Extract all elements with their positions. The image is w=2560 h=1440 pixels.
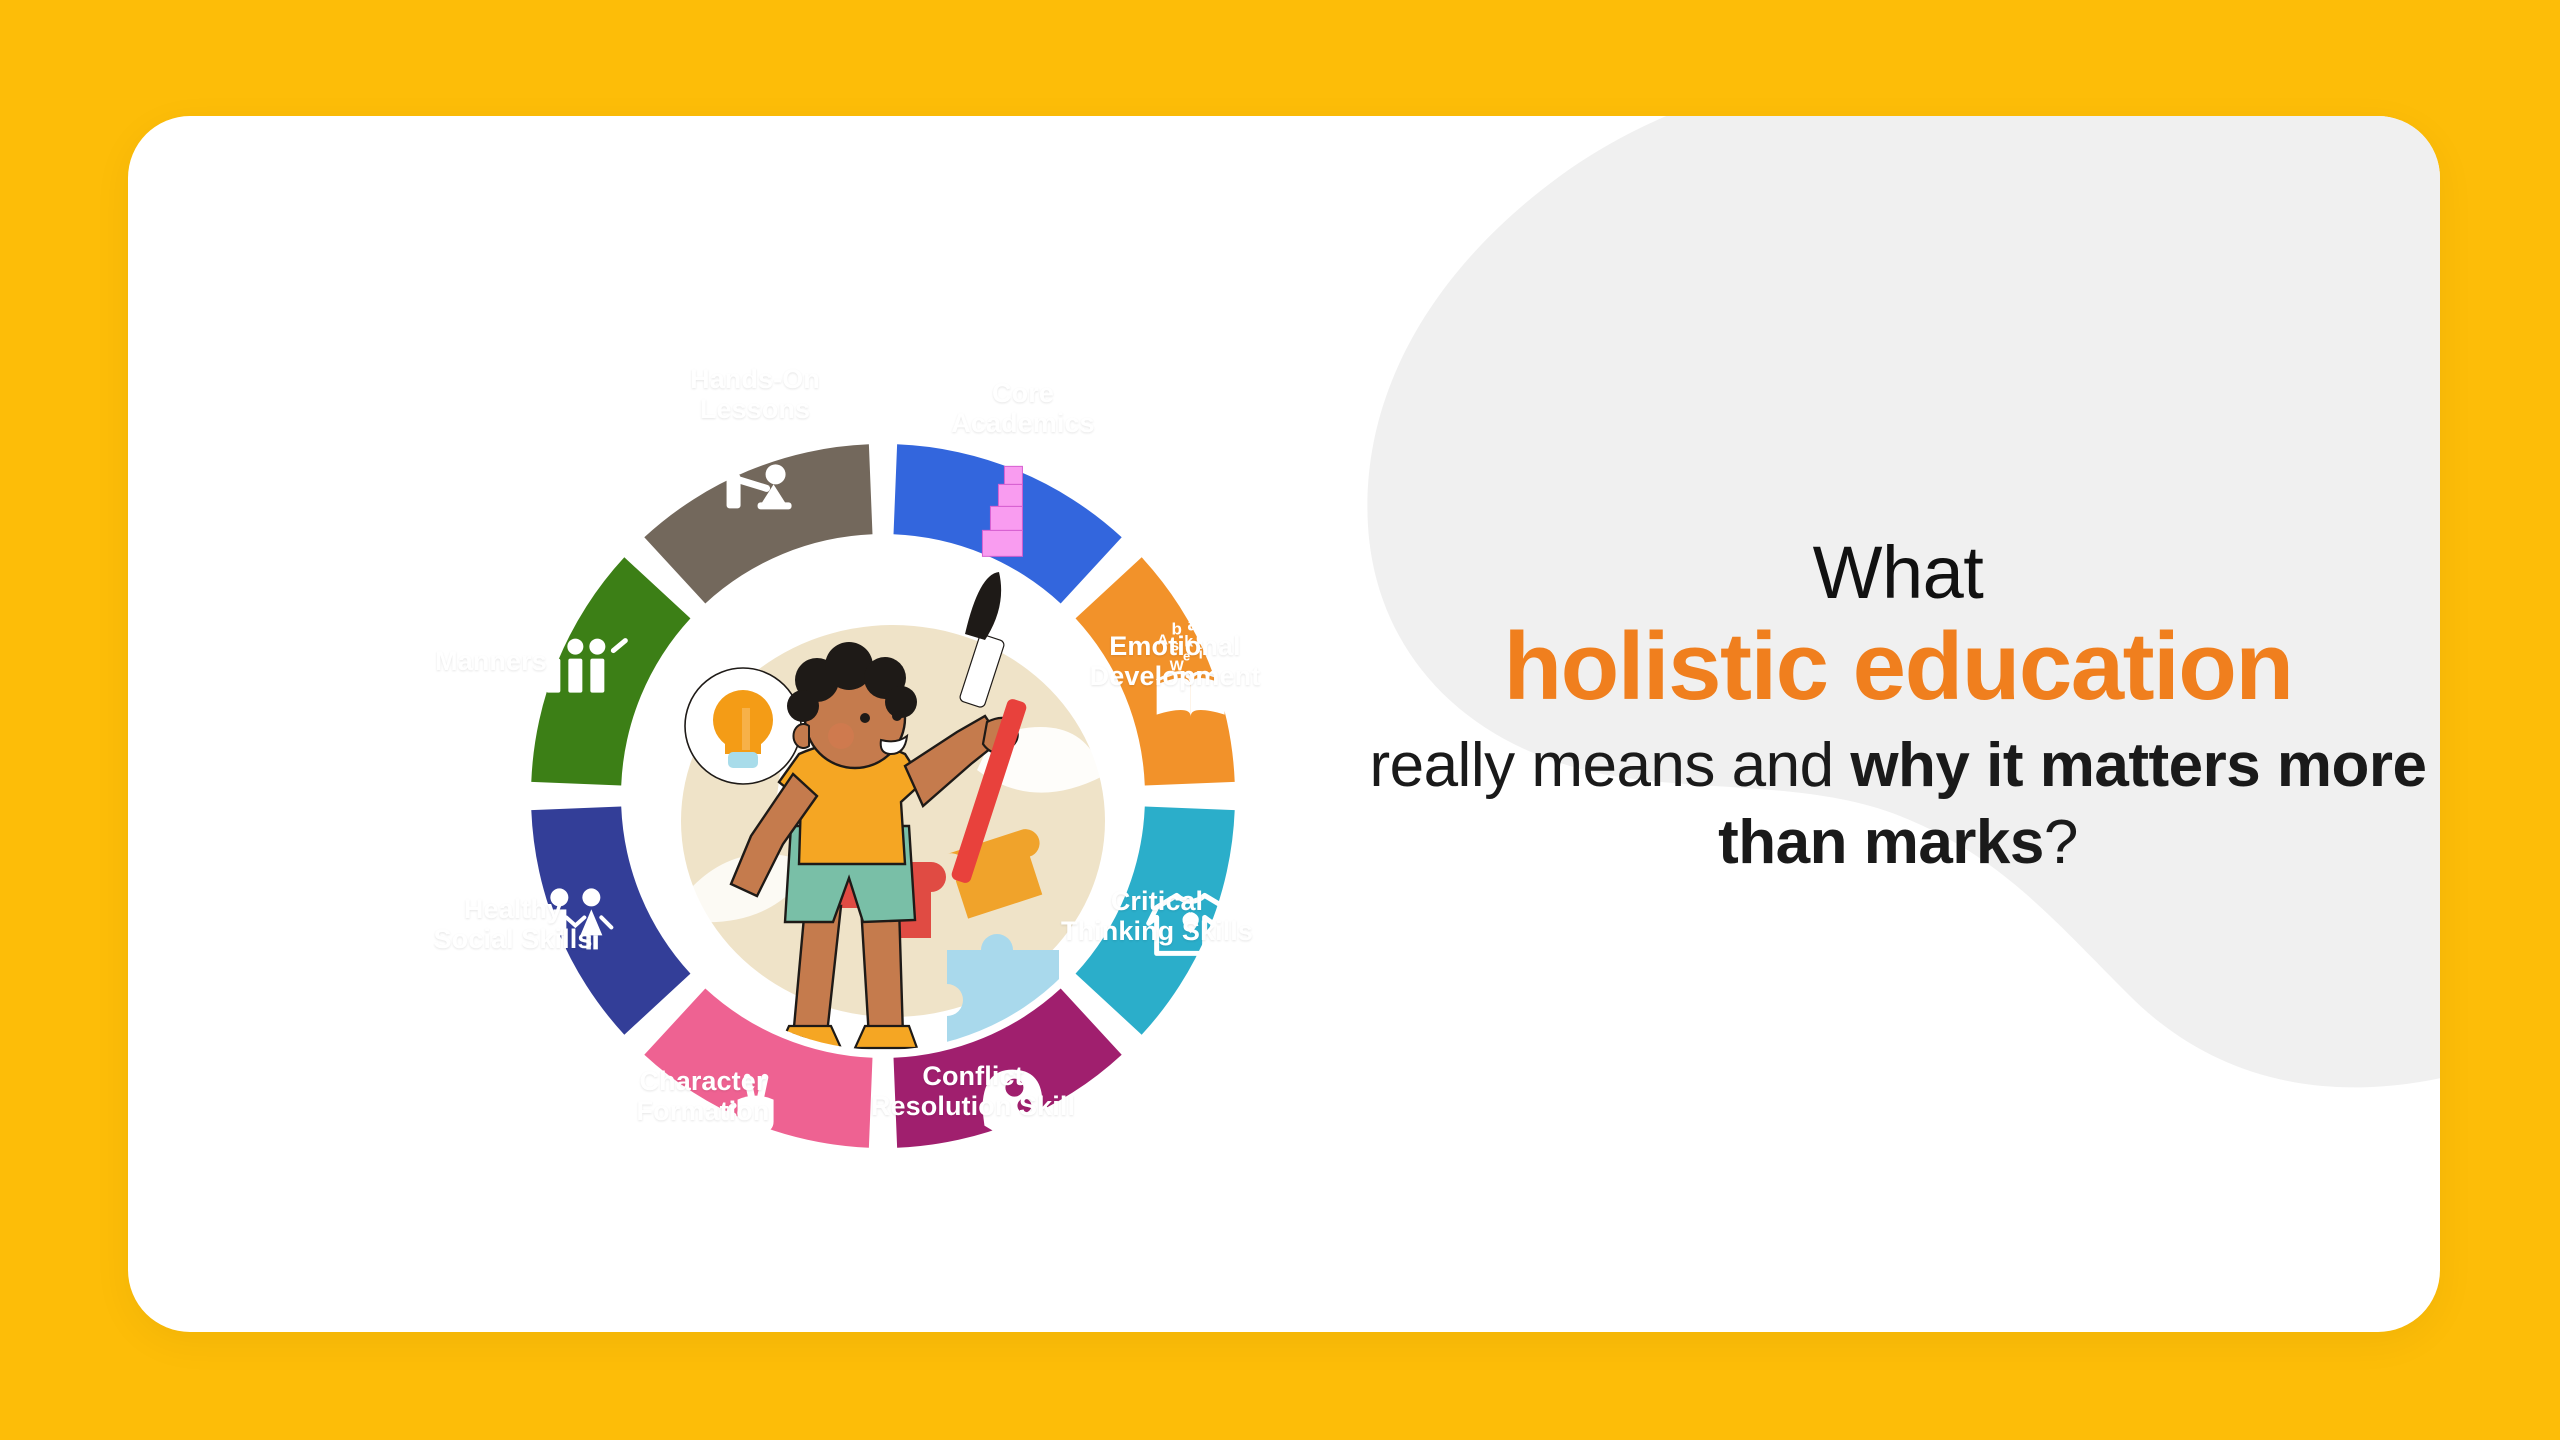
headline-line-holistic: holistic education [1328,616,2440,718]
subtitle-light-a: really means and [1369,731,1850,800]
svg-text:A: A [1157,632,1168,649]
svg-text:W: W [1170,658,1185,675]
subtitle-light-b: ? [2044,808,2078,877]
headline-line-subtitle: really means and why it matters more tha… [1328,728,2440,882]
holistic-education-wheel: baAskOeiWo [293,266,1473,1326]
head-gears-icon [982,1070,1042,1148]
headline-block: What holistic education really means and… [1328,536,2440,882]
svg-text:o: o [1185,668,1192,682]
svg-text:i: i [1199,646,1203,663]
svg-text:s: s [1170,638,1179,655]
svg-text:e: e [1183,649,1190,664]
headline-line-what: What [1328,536,2440,610]
center-illustration [629,542,1137,1062]
svg-text:b: b [1171,620,1181,639]
content-card: baAskOeiWo [128,116,2440,1332]
